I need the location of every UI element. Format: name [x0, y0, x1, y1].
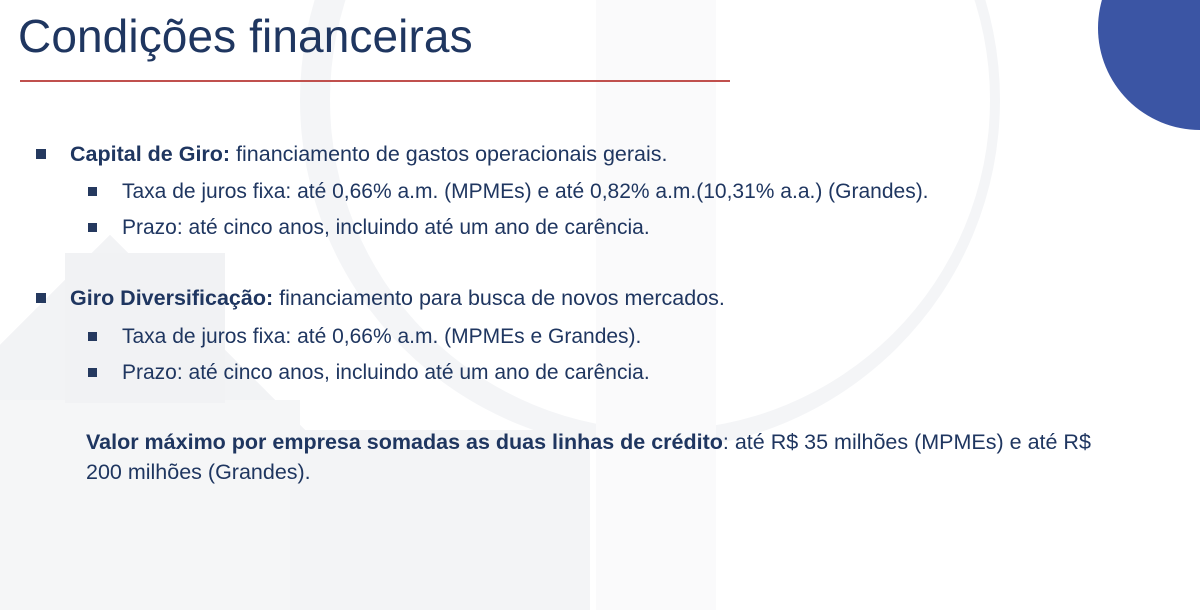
square-bullet-icon [88, 368, 97, 377]
spacer [0, 315, 1160, 323]
slide-body: Capital de Giro: financiamento de gastos… [0, 140, 1160, 488]
square-bullet-icon [36, 149, 46, 159]
sub-bullet-prazo-capital: Prazo: até cinco anos, incluindo até um … [0, 214, 1160, 242]
max-value-note-bold: Valor máximo por empresa somadas as duas… [86, 430, 723, 454]
bullet-label: Capital de Giro: [70, 142, 230, 166]
spacer [0, 351, 1160, 359]
sub-bullet-text: Taxa de juros fixa: até 0,66% a.m. (MPME… [122, 325, 641, 348]
bullet-text: financiamento de gastos operacionais ger… [230, 142, 667, 166]
sub-bullet-text: Taxa de juros fixa: até 0,66% a.m. (MPME… [122, 180, 929, 203]
bullet-item-giro-diversificacao: Giro Diversificação: financiamento para … [0, 284, 1160, 312]
bullet-item-capital-de-giro: Capital de Giro: financiamento de gastos… [0, 140, 1160, 168]
square-bullet-icon [88, 223, 97, 232]
bullet-group-capital-de-giro: Capital de Giro: financiamento de gastos… [0, 140, 1160, 242]
sub-bullet-taxa-juros-diversificacao: Taxa de juros fixa: até 0,66% a.m. (MPME… [0, 323, 1160, 351]
sub-bullet-text: Prazo: até cinco anos, incluindo até um … [122, 216, 650, 239]
square-bullet-icon [36, 293, 46, 303]
page-title: Condições financeiras [18, 8, 473, 66]
square-bullet-icon [88, 332, 97, 341]
sub-bullet-taxa-juros-capital: Taxa de juros fixa: até 0,66% a.m. (MPME… [0, 178, 1160, 206]
bullet-text: financiamento para busca de novos mercad… [273, 286, 725, 310]
spacer [0, 386, 1160, 428]
corner-circles-decoration [1070, 0, 1200, 160]
title-underline-rule [20, 80, 730, 82]
spacer [0, 170, 1160, 178]
slide-canvas: Condições financeiras Capital de Giro: f… [0, 0, 1200, 610]
max-value-note: Valor máximo por empresa somadas as duas… [0, 428, 1110, 487]
bullet-label: Giro Diversificação: [70, 286, 273, 310]
sub-bullet-prazo-diversificacao: Prazo: até cinco anos, incluindo até um … [0, 359, 1160, 387]
square-bullet-icon [88, 187, 97, 196]
spacer [0, 206, 1160, 214]
sub-bullet-text: Prazo: até cinco anos, incluindo até um … [122, 361, 650, 384]
bullet-group-giro-diversificacao: Giro Diversificação: financiamento para … [0, 284, 1160, 386]
spacer [0, 242, 1160, 284]
